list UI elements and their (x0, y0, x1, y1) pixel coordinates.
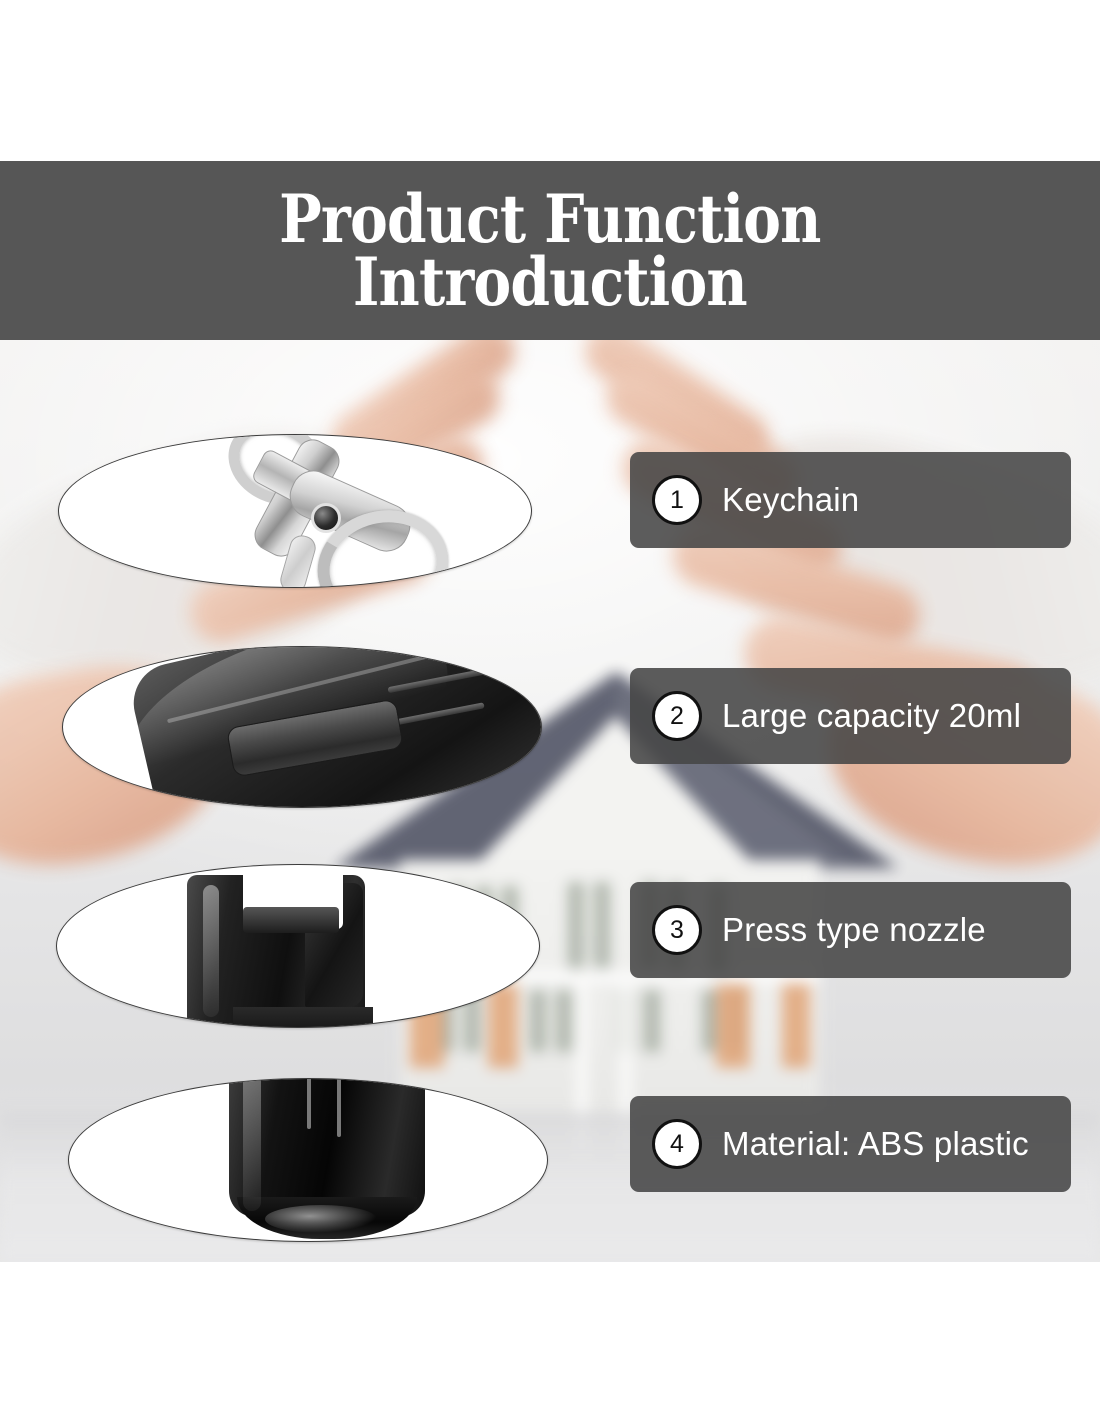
product-scene: 1 Keychain 2 Large capacity 20ml 3 Press… (0, 340, 1100, 1262)
feature-label: Large capacity 20ml (722, 697, 1021, 735)
header-banner: Product Function Introduction (0, 161, 1100, 340)
top-white-band (0, 0, 1100, 161)
callout-oval-4 (68, 1078, 548, 1242)
feature-number-badge: 1 (652, 475, 702, 525)
feature-label: Keychain (722, 481, 859, 519)
infographic-page: Product Function Introduction (0, 0, 1100, 1422)
feature-chip-1[interactable]: 1 Keychain (630, 452, 1071, 548)
bottom-white-band (0, 1262, 1100, 1422)
feature-number-badge: 2 (652, 691, 702, 741)
feature-chip-3[interactable]: 3 Press type nozzle (630, 882, 1071, 978)
page-title: Product Function Introduction (262, 188, 838, 313)
callout-oval-3 (56, 864, 540, 1028)
keychain-clasp-icon (59, 435, 531, 587)
feature-label: Material: ABS plastic (722, 1125, 1029, 1163)
feature-chip-4[interactable]: 4 Material: ABS plastic (630, 1096, 1071, 1192)
callout-oval-1 (58, 434, 532, 588)
nozzle-cap-icon (57, 865, 539, 1027)
feature-chip-2[interactable]: 2 Large capacity 20ml (630, 668, 1071, 764)
callout-oval-2 (62, 646, 542, 808)
bottle-body-icon (63, 647, 541, 807)
feature-label: Press type nozzle (722, 911, 986, 949)
feature-number-badge: 4 (652, 1119, 702, 1169)
bottle-base-icon (69, 1079, 547, 1241)
feature-number-badge: 3 (652, 905, 702, 955)
